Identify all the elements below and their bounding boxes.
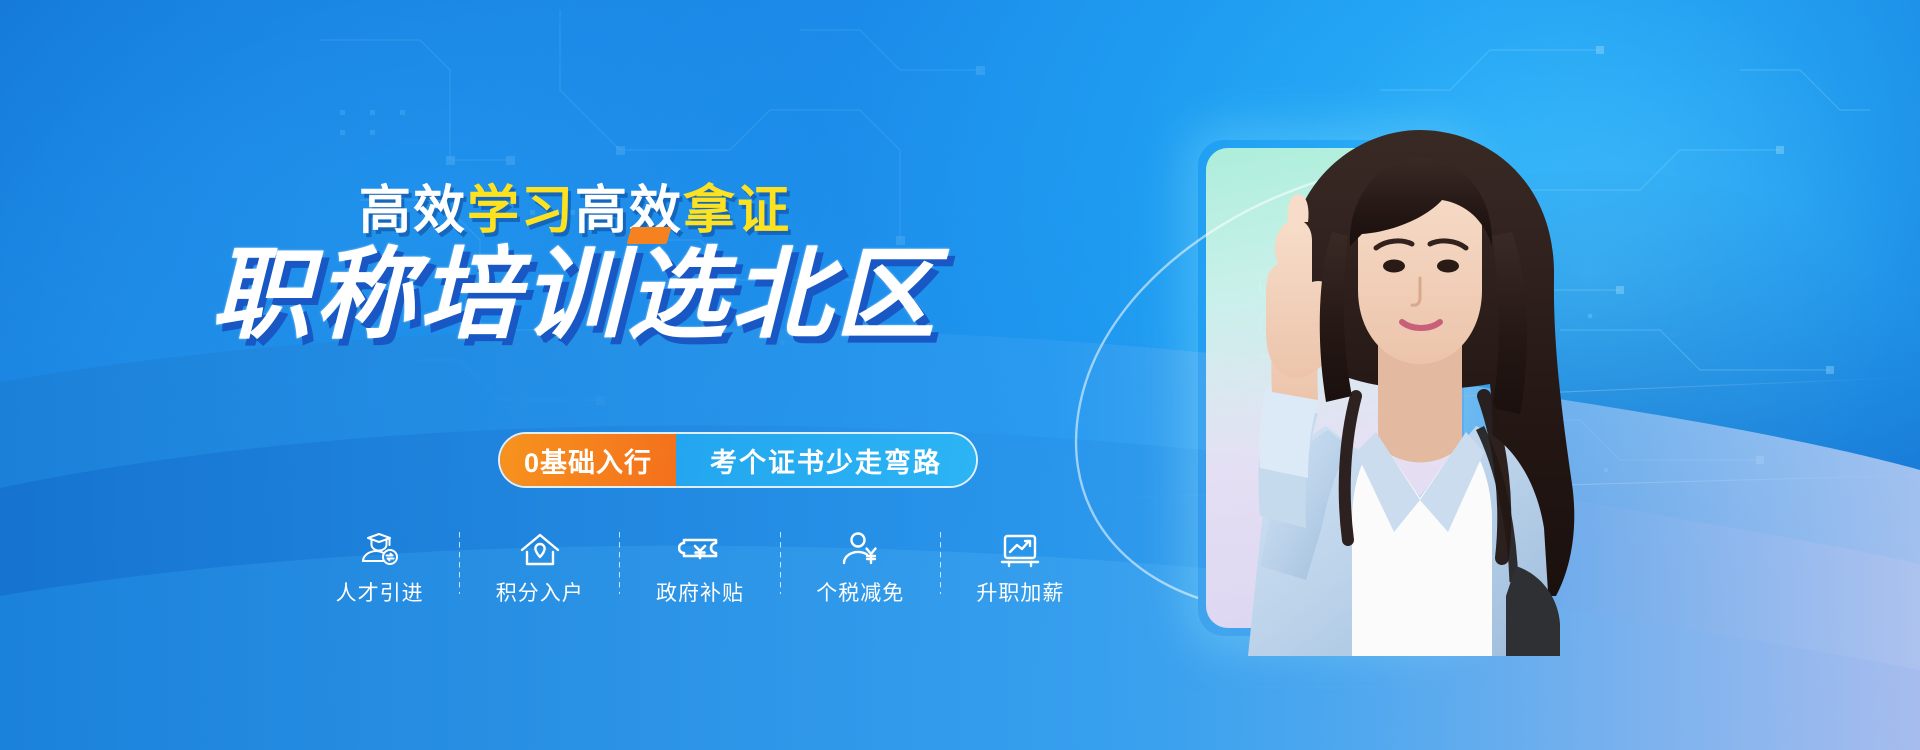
feature-item-talent-intro[interactable]: 人才引进 [300, 530, 459, 604]
kicker-part-2: 学习 [467, 182, 575, 240]
house-pin-icon [518, 530, 562, 574]
growth-chart-icon [998, 530, 1042, 574]
badge-orange-segment: 0基础入行 [500, 434, 676, 486]
feature-label: 政府补贴 [656, 583, 744, 604]
kicker-part-4: 拿证 [683, 182, 791, 240]
headline: 职称培训选北区 [0, 245, 1150, 345]
feature-label: 人才引进 [336, 583, 424, 604]
feature-item-promotion-raise[interactable]: 升职加薪 [941, 530, 1100, 604]
feature-label: 积分入户 [496, 583, 584, 604]
instructor-illustration [1120, 96, 1680, 656]
feature-item-gov-subsidy[interactable]: 政府补贴 [620, 530, 779, 604]
subhead-badge[interactable]: 0基础入行 考个证书少走弯路 [498, 432, 978, 488]
kicker-line: 高效学习高效拿证 [0, 185, 1150, 237]
feature-label: 升职加薪 [976, 583, 1064, 604]
kicker-part-1: 高效 [359, 182, 467, 240]
person-yuan-icon [838, 530, 882, 574]
promo-banner: 高效学习高效拿证 职称培训选北区 0基础入行 考个证书少走弯路 [0, 0, 1920, 750]
feature-row: 人才引进 积分入户 [300, 530, 1100, 620]
badge-blue-segment: 考个证书少走弯路 [676, 434, 976, 486]
instructor-photo-group [1120, 96, 1680, 656]
feature-label: 个税减免 [816, 583, 904, 604]
copy-block: 高效学习高效拿证 职称培训选北区 0基础入行 考个证书少走弯路 [0, 0, 1150, 750]
feature-item-tax-reduction[interactable]: 个税减免 [781, 530, 940, 604]
headline-tail: 北区 [731, 239, 939, 351]
headline-accent-char: 选 [627, 245, 731, 345]
feature-item-points-residence[interactable]: 积分入户 [460, 530, 619, 604]
ticket-yuan-icon [678, 530, 722, 574]
headline-lead: 职称培训 [211, 239, 627, 351]
graduate-person-icon [358, 530, 402, 574]
